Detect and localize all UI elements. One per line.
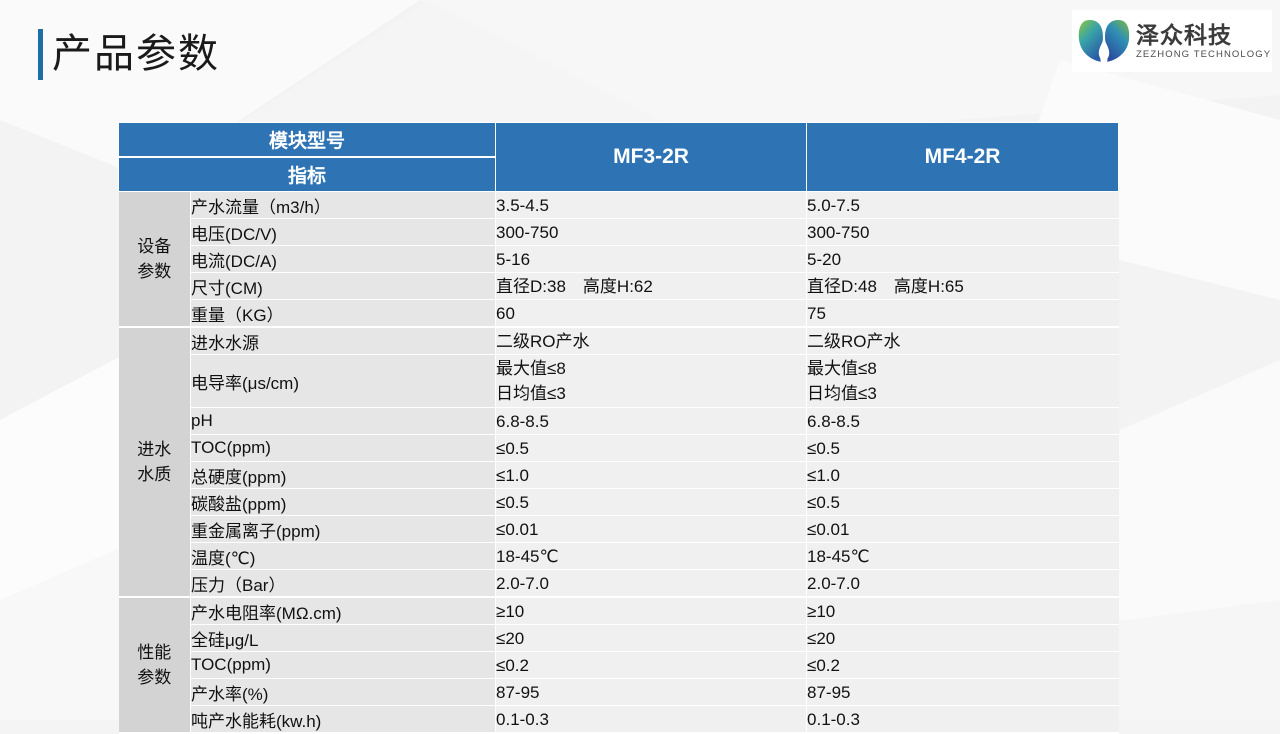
table-row: 温度(℃)18-45℃18-45℃ xyxy=(119,543,1119,570)
row-label: TOC(ppm) xyxy=(191,652,496,679)
row-value-col1: ≤0.5 xyxy=(496,489,807,516)
table-row: 电流(DC/A)5-165-20 xyxy=(119,246,1119,273)
table-row: 尺寸(CM)直径D:38 高度H:62直径D:48 高度H:65 xyxy=(119,273,1119,300)
row-label: 电导率(μs/cm) xyxy=(191,355,496,408)
logo-company-name-en: ZEZHONG TECHNOLOGY xyxy=(1136,48,1271,61)
table-row: 电压(DC/V)300-750300-750 xyxy=(119,219,1119,246)
table-row: TOC(ppm)≤0.2≤0.2 xyxy=(119,652,1119,679)
value-line: 18-45℃ xyxy=(496,544,806,569)
row-value-col1: 0.1-0.3 xyxy=(496,706,807,734)
value-line: ≤20 xyxy=(496,626,806,651)
table-row: 压力（Bar）2.0-7.02.0-7.0 xyxy=(119,570,1119,598)
group-label-line: 水质 xyxy=(119,462,191,487)
row-value-col2: 最大值≤8日均值≤3 xyxy=(807,355,1119,408)
leaf-droplet-icon xyxy=(1078,16,1130,66)
table-row: 总硬度(ppm)≤1.0≤1.0 xyxy=(119,462,1119,489)
row-value-col2: ≥10 xyxy=(807,597,1119,625)
group-label-line: 性能 xyxy=(119,640,191,665)
header-corner-model: 模块型号 xyxy=(119,123,496,158)
value-line: 3.5-4.5 xyxy=(496,193,806,218)
row-label: 全硅μg/L xyxy=(191,625,496,652)
header-corner-index: 指标 xyxy=(119,157,496,192)
row-label: 产水流量（m3/h） xyxy=(191,192,496,219)
value-line: 5-20 xyxy=(807,247,1119,272)
row-value-col1: 5-16 xyxy=(496,246,807,273)
row-value-col1: 60 xyxy=(496,300,807,328)
row-label: TOC(ppm) xyxy=(191,435,496,462)
row-value-col2: 87-95 xyxy=(807,679,1119,706)
group-label-line: 设备 xyxy=(119,234,191,259)
value-line: ≤0.5 xyxy=(496,490,806,515)
value-line: 6.8-8.5 xyxy=(807,409,1119,434)
value-line: 最大值≤8 xyxy=(807,356,1119,381)
group-label-line: 参数 xyxy=(119,259,191,284)
value-line: ≤0.01 xyxy=(496,517,806,542)
value-line: 18-45℃ xyxy=(807,544,1119,569)
section-group-label-1: 设备参数 xyxy=(119,192,191,328)
page-title: 产品参数 xyxy=(52,26,220,82)
row-value-col2: ≤0.5 xyxy=(807,489,1119,516)
table-row: 电导率(μs/cm)最大值≤8日均值≤3最大值≤8日均值≤3 xyxy=(119,355,1119,408)
value-line: ≤0.5 xyxy=(496,436,806,461)
value-line: 0.1-0.3 xyxy=(496,707,806,732)
row-label: 电流(DC/A) xyxy=(191,246,496,273)
value-line: 最大值≤8 xyxy=(496,356,806,381)
row-label: 电压(DC/V) xyxy=(191,219,496,246)
row-value-col2: 75 xyxy=(807,300,1119,328)
row-label: 重量（KG） xyxy=(191,300,496,328)
row-value-col2: 18-45℃ xyxy=(807,543,1119,570)
row-value-col1: 直径D:38 高度H:62 xyxy=(496,273,807,300)
row-value-col2: ≤0.2 xyxy=(807,652,1119,679)
value-line: 87-95 xyxy=(496,680,806,705)
value-line: 75 xyxy=(807,301,1119,326)
value-line: 5.0-7.5 xyxy=(807,193,1119,218)
value-line: ≤1.0 xyxy=(496,463,806,488)
group-label-line: 参数 xyxy=(119,665,191,690)
row-label: 碳酸盐(ppm) xyxy=(191,489,496,516)
table-row: pH6.8-8.56.8-8.5 xyxy=(119,408,1119,435)
value-line: ≥10 xyxy=(807,599,1119,624)
table-row: TOC(ppm)≤0.5≤0.5 xyxy=(119,435,1119,462)
header-column-1: MF3-2R xyxy=(496,123,807,192)
table-row: 吨产水能耗(kw.h)0.1-0.30.1-0.3 xyxy=(119,706,1119,734)
row-value-col1: ≥10 xyxy=(496,597,807,625)
table-row: 产水率(%)87-9587-95 xyxy=(119,679,1119,706)
row-label: 总硬度(ppm) xyxy=(191,462,496,489)
logo-text: 泽众科技 ZEZHONG TECHNOLOGY xyxy=(1136,22,1271,61)
value-line: 直径D:38 高度H:62 xyxy=(496,274,806,299)
row-label: 尺寸(CM) xyxy=(191,273,496,300)
value-line: ≤20 xyxy=(807,626,1119,651)
table-row: 碳酸盐(ppm)≤0.5≤0.5 xyxy=(119,489,1119,516)
table-row: 进水水质进水水源二级RO产水二级RO产水 xyxy=(119,327,1119,355)
row-value-col2: ≤0.5 xyxy=(807,435,1119,462)
row-value-col1: ≤0.01 xyxy=(496,516,807,543)
row-value-col2: ≤20 xyxy=(807,625,1119,652)
value-line: ≤0.01 xyxy=(807,517,1119,542)
row-value-col1: ≤0.5 xyxy=(496,435,807,462)
row-value-col1: 300-750 xyxy=(496,219,807,246)
value-line: 2.0-7.0 xyxy=(807,571,1119,596)
value-line: 二级RO产水 xyxy=(496,329,806,354)
row-value-col1: 2.0-7.0 xyxy=(496,570,807,598)
value-line: 5-16 xyxy=(496,247,806,272)
row-label: 温度(℃) xyxy=(191,543,496,570)
row-value-col2: 300-750 xyxy=(807,219,1119,246)
value-line: 6.8-8.5 xyxy=(496,409,806,434)
row-label: 吨产水能耗(kw.h) xyxy=(191,706,496,734)
table-row: 设备参数产水流量（m3/h）3.5-4.55.0-7.5 xyxy=(119,192,1119,219)
value-line: 日均值≤3 xyxy=(496,381,806,406)
row-label: 重金属离子(ppm) xyxy=(191,516,496,543)
row-value-col1: 87-95 xyxy=(496,679,807,706)
row-value-col1: 最大值≤8日均值≤3 xyxy=(496,355,807,408)
row-value-col2: 二级RO产水 xyxy=(807,327,1119,355)
value-line: ≤0.2 xyxy=(496,653,806,678)
header-column-2: MF4-2R xyxy=(807,123,1119,192)
value-line: 二级RO产水 xyxy=(807,329,1119,354)
value-line: ≤0.2 xyxy=(807,653,1119,678)
row-value-col1: 18-45℃ xyxy=(496,543,807,570)
value-line: ≤1.0 xyxy=(807,463,1119,488)
table-row: 性能参数产水电阻率(MΩ.cm)≥10≥10 xyxy=(119,597,1119,625)
table-header-row-top: 模块型号MF3-2RMF4-2R xyxy=(119,123,1119,158)
value-line: 87-95 xyxy=(807,680,1119,705)
value-line: ≤0.5 xyxy=(807,490,1119,515)
value-line: 300-750 xyxy=(807,220,1119,245)
table-row: 全硅μg/L≤20≤20 xyxy=(119,625,1119,652)
table-row: 重金属离子(ppm)≤0.01≤0.01 xyxy=(119,516,1119,543)
row-value-col1: 6.8-8.5 xyxy=(496,408,807,435)
row-label: 进水水源 xyxy=(191,327,496,355)
row-label: 产水电阻率(MΩ.cm) xyxy=(191,597,496,625)
row-value-col2: ≤0.01 xyxy=(807,516,1119,543)
logo-company-name-cn: 泽众科技 xyxy=(1136,22,1271,48)
value-line: 0.1-0.3 xyxy=(807,707,1119,732)
company-logo: 泽众科技 ZEZHONG TECHNOLOGY xyxy=(1072,10,1272,72)
row-label: pH xyxy=(191,408,496,435)
row-value-col2: 2.0-7.0 xyxy=(807,570,1119,598)
value-line: 日均值≤3 xyxy=(807,381,1119,406)
row-value-col2: 5.0-7.5 xyxy=(807,192,1119,219)
value-line: 2.0-7.0 xyxy=(496,571,806,596)
slide-header: 产品参数 泽众科技 ZEZHONG TECHNOLOGY xyxy=(0,0,1280,100)
value-line: 300-750 xyxy=(496,220,806,245)
value-line: ≤0.5 xyxy=(807,436,1119,461)
row-value-col1: ≤20 xyxy=(496,625,807,652)
table-row: 重量（KG）6075 xyxy=(119,300,1119,328)
product-parameter-table: 模块型号MF3-2RMF4-2R指标设备参数产水流量（m3/h）3.5-4.55… xyxy=(118,122,1119,734)
row-value-col2: 6.8-8.5 xyxy=(807,408,1119,435)
row-value-col2: 直径D:48 高度H:65 xyxy=(807,273,1119,300)
row-value-col1: ≤1.0 xyxy=(496,462,807,489)
row-value-col2: ≤1.0 xyxy=(807,462,1119,489)
row-value-col1: ≤0.2 xyxy=(496,652,807,679)
title-accent-bar xyxy=(38,29,43,80)
row-label: 产水率(%) xyxy=(191,679,496,706)
value-line: ≥10 xyxy=(496,599,806,624)
row-label: 压力（Bar） xyxy=(191,570,496,598)
value-line: 60 xyxy=(496,301,806,326)
row-value-col1: 二级RO产水 xyxy=(496,327,807,355)
value-line: 直径D:48 高度H:65 xyxy=(807,274,1119,299)
row-value-col1: 3.5-4.5 xyxy=(496,192,807,219)
section-group-label-3: 性能参数 xyxy=(119,597,191,733)
row-value-col2: 5-20 xyxy=(807,246,1119,273)
section-group-label-2: 进水水质 xyxy=(119,327,191,597)
group-label-line: 进水 xyxy=(119,437,191,462)
row-value-col2: 0.1-0.3 xyxy=(807,706,1119,734)
